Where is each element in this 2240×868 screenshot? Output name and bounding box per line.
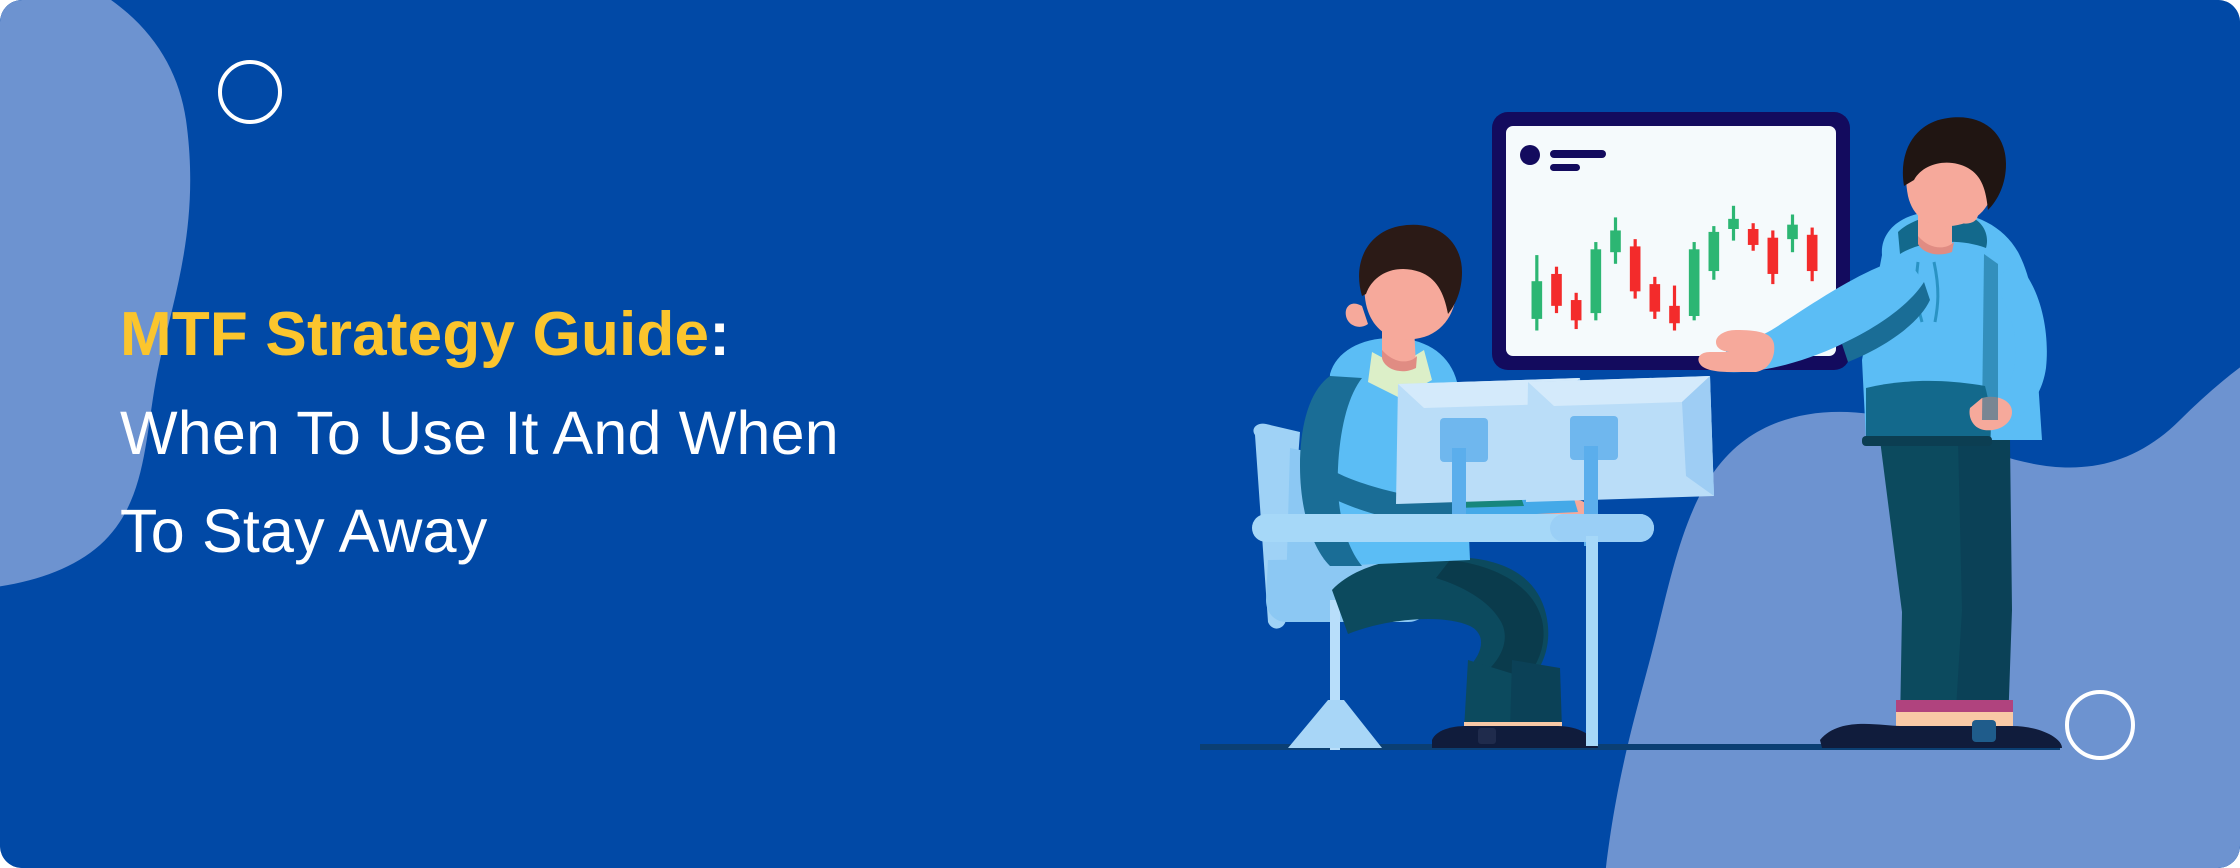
standing-presenter <box>1820 117 2062 748</box>
seated-trader-shoe-left <box>1432 726 1520 748</box>
desk-leg <box>1586 536 1598 746</box>
presenter-sock-stripe-right <box>1955 700 2013 712</box>
headline-block: MTF Strategy Guide: When To Use It And W… <box>120 286 1100 580</box>
seated-trader-shoe-right <box>1508 726 1598 748</box>
presenter-front-leg <box>1955 440 2012 726</box>
seated-trader-shoe-detail <box>1478 728 1496 744</box>
presenter-back-leg <box>1880 440 1965 726</box>
desk-top-right <box>1550 514 1654 542</box>
presenter-shoe-detail <box>1972 720 1996 742</box>
presenter-ear <box>1956 205 1978 224</box>
presenter-shoe-right <box>1950 726 2062 748</box>
headline-line-2: When To Use It And When <box>120 384 1100 482</box>
headline-strong: MTF Strategy Guide <box>120 300 709 369</box>
presenter-hand <box>1698 330 1774 372</box>
seated-trader-ear <box>1346 304 1368 327</box>
chair-base <box>1288 700 1382 748</box>
seated-trader-shin-front <box>1510 660 1562 730</box>
headline-line-3: To Stay Away <box>120 482 1100 580</box>
headline-colon: : <box>709 300 730 369</box>
seated-trader-lower <box>1332 556 1598 748</box>
presenter-hoodie-hem <box>1862 436 1992 446</box>
headline-line-1: MTF Strategy Guide: <box>120 286 1100 384</box>
presenter-shoe-left <box>1820 724 1962 748</box>
presenter-torso-shade <box>1982 254 1998 420</box>
presenter-sock-stripe-left <box>1896 700 1958 712</box>
circle-outline-icon-bottom-right <box>2065 690 2135 760</box>
monitor-left-stand <box>1452 448 1466 520</box>
circle-outline-icon-top-left <box>218 60 282 124</box>
hero-banner: MTF Strategy Guide: When To Use It And W… <box>0 0 2240 868</box>
